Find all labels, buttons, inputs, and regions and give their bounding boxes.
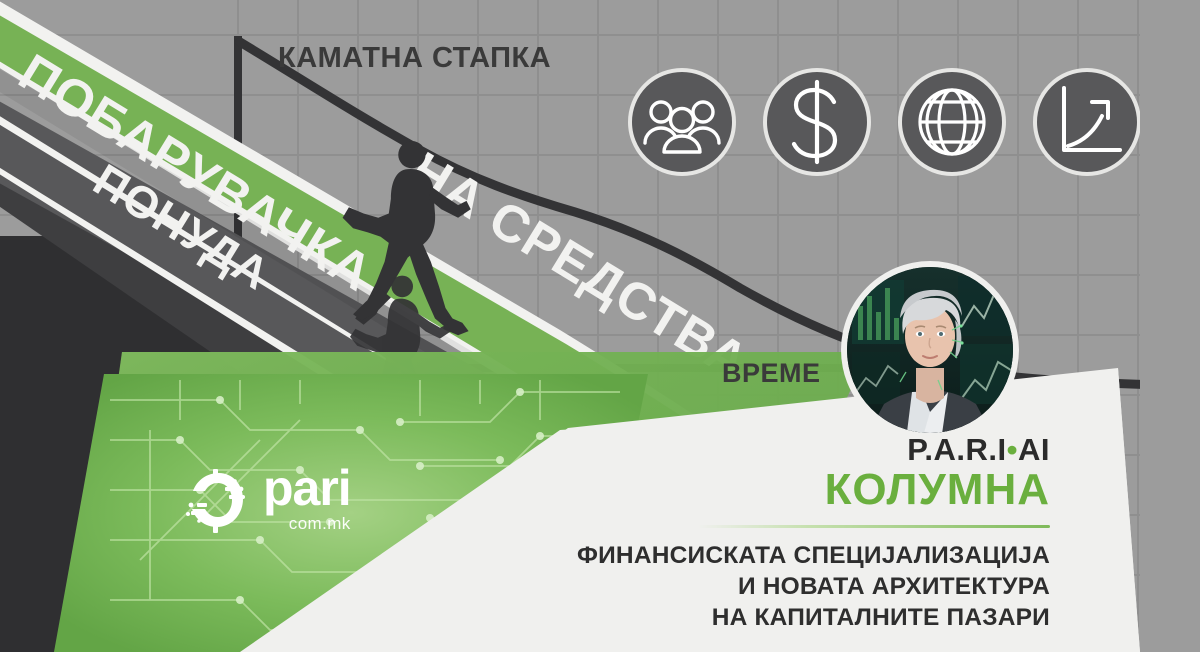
section-divider: [698, 525, 1050, 528]
editorial-block: P.A.R.I•AI КОЛУМНА ФИНАНСИСКАТА СПЕЦИЈАЛ…: [520, 434, 1050, 634]
headline-line-2: И НОВАТА АРХИТЕКТУРА: [520, 571, 1050, 602]
headline: ФИНАНСИСКАТА СПЕЦИЈАЛИЗАЦИЈА И НОВАТА АР…: [520, 540, 1050, 633]
brand-prefix: P.A.R.I: [907, 432, 1006, 467]
brand-suffix: AI: [1018, 432, 1050, 467]
brand-dot: •: [1007, 432, 1018, 467]
brand-title: P.A.R.I•AI: [520, 434, 1050, 465]
headline-line-3: НА КАПИТАЛНИТЕ ПАЗАРИ: [520, 602, 1050, 633]
y-axis-label: КАМАТНА СТАПКА: [278, 42, 551, 75]
headline-line-1: ФИНАНСИСКАТА СПЕЦИЈАЛИЗАЦИЈА: [520, 540, 1050, 571]
promo-banner: ПОБАРУВАЧКА НА СРЕДСТВА ПОНУДА: [0, 0, 1200, 652]
column-label: КОЛУМНА: [520, 465, 1050, 514]
avatar: [841, 261, 1019, 440]
x-axis-label: ВРЕМЕ: [722, 358, 821, 389]
